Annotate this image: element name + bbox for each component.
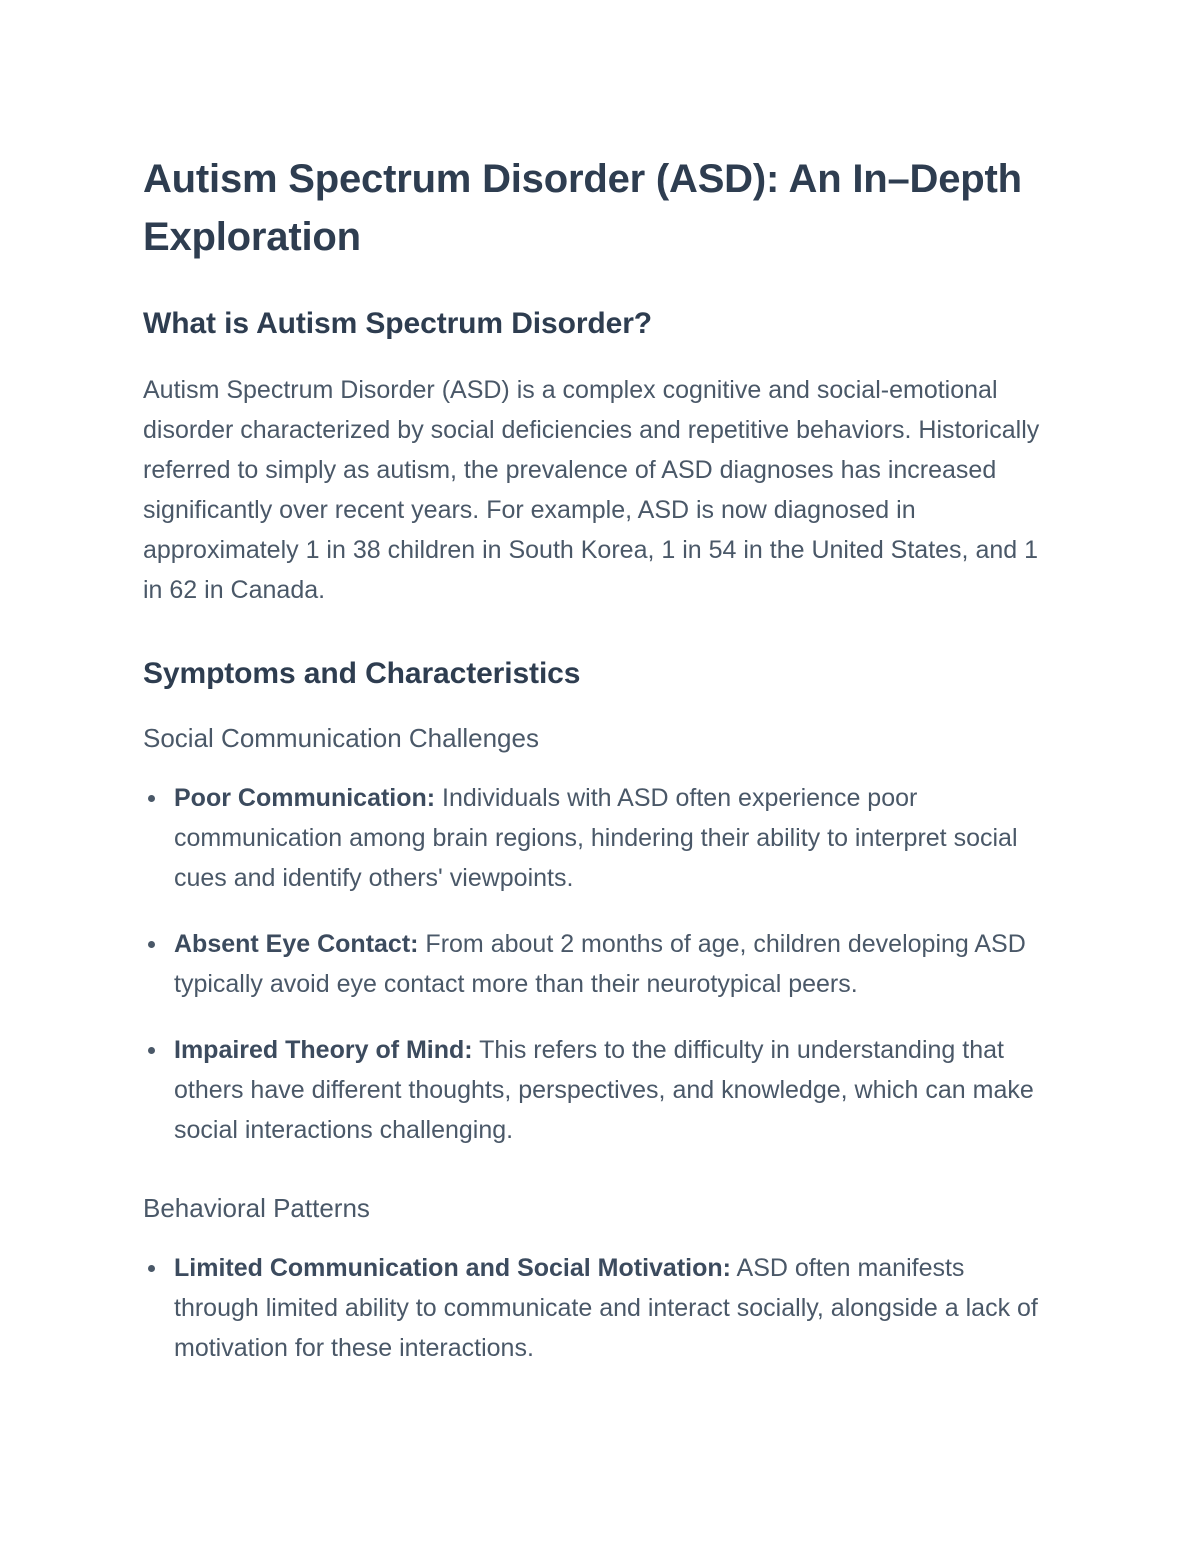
list-item: Poor Communication: Individuals with ASD… <box>143 778 1055 898</box>
list-item-lead-in: Absent Eye Contact: <box>174 930 418 958</box>
list-item: Impaired Theory of Mind: This refers to … <box>143 1030 1055 1150</box>
bullet-dot-icon <box>148 941 155 948</box>
list-item-lead-in: Poor Communication: <box>174 784 435 812</box>
bullet-list-social-communication: Poor Communication: Individuals with ASD… <box>143 778 1055 1150</box>
list-item-lead-in: Impaired Theory of Mind: <box>174 1036 473 1064</box>
bullet-list-behavioral-patterns: Limited Communication and Social Motivat… <box>143 1248 1055 1368</box>
sub-heading-behavioral-patterns: Behavioral Patterns <box>143 1190 1055 1226</box>
document-page: Autism Spectrum Disorder (ASD): An In–De… <box>0 0 1200 1553</box>
section-heading-what-is-asd: What is Autism Spectrum Disorder? <box>143 304 1055 344</box>
bullet-dot-icon <box>148 1265 155 1272</box>
paragraph-what-is-asd: Autism Spectrum Disorder (ASD) is a comp… <box>143 370 1055 610</box>
list-item: Absent Eye Contact: From about 2 months … <box>143 924 1055 1004</box>
document-title: Autism Spectrum Disorder (ASD): An In–De… <box>143 150 1023 266</box>
list-item-lead-in: Limited Communication and Social Motivat… <box>174 1254 731 1282</box>
bullet-dot-icon <box>148 1047 155 1054</box>
section-heading-symptoms-and-characteristics: Symptoms and Characteristics <box>143 654 1055 694</box>
bullet-dot-icon <box>148 795 155 802</box>
list-item: Limited Communication and Social Motivat… <box>143 1248 1055 1368</box>
sub-heading-social-communication-challenges: Social Communication Challenges <box>143 720 1055 756</box>
